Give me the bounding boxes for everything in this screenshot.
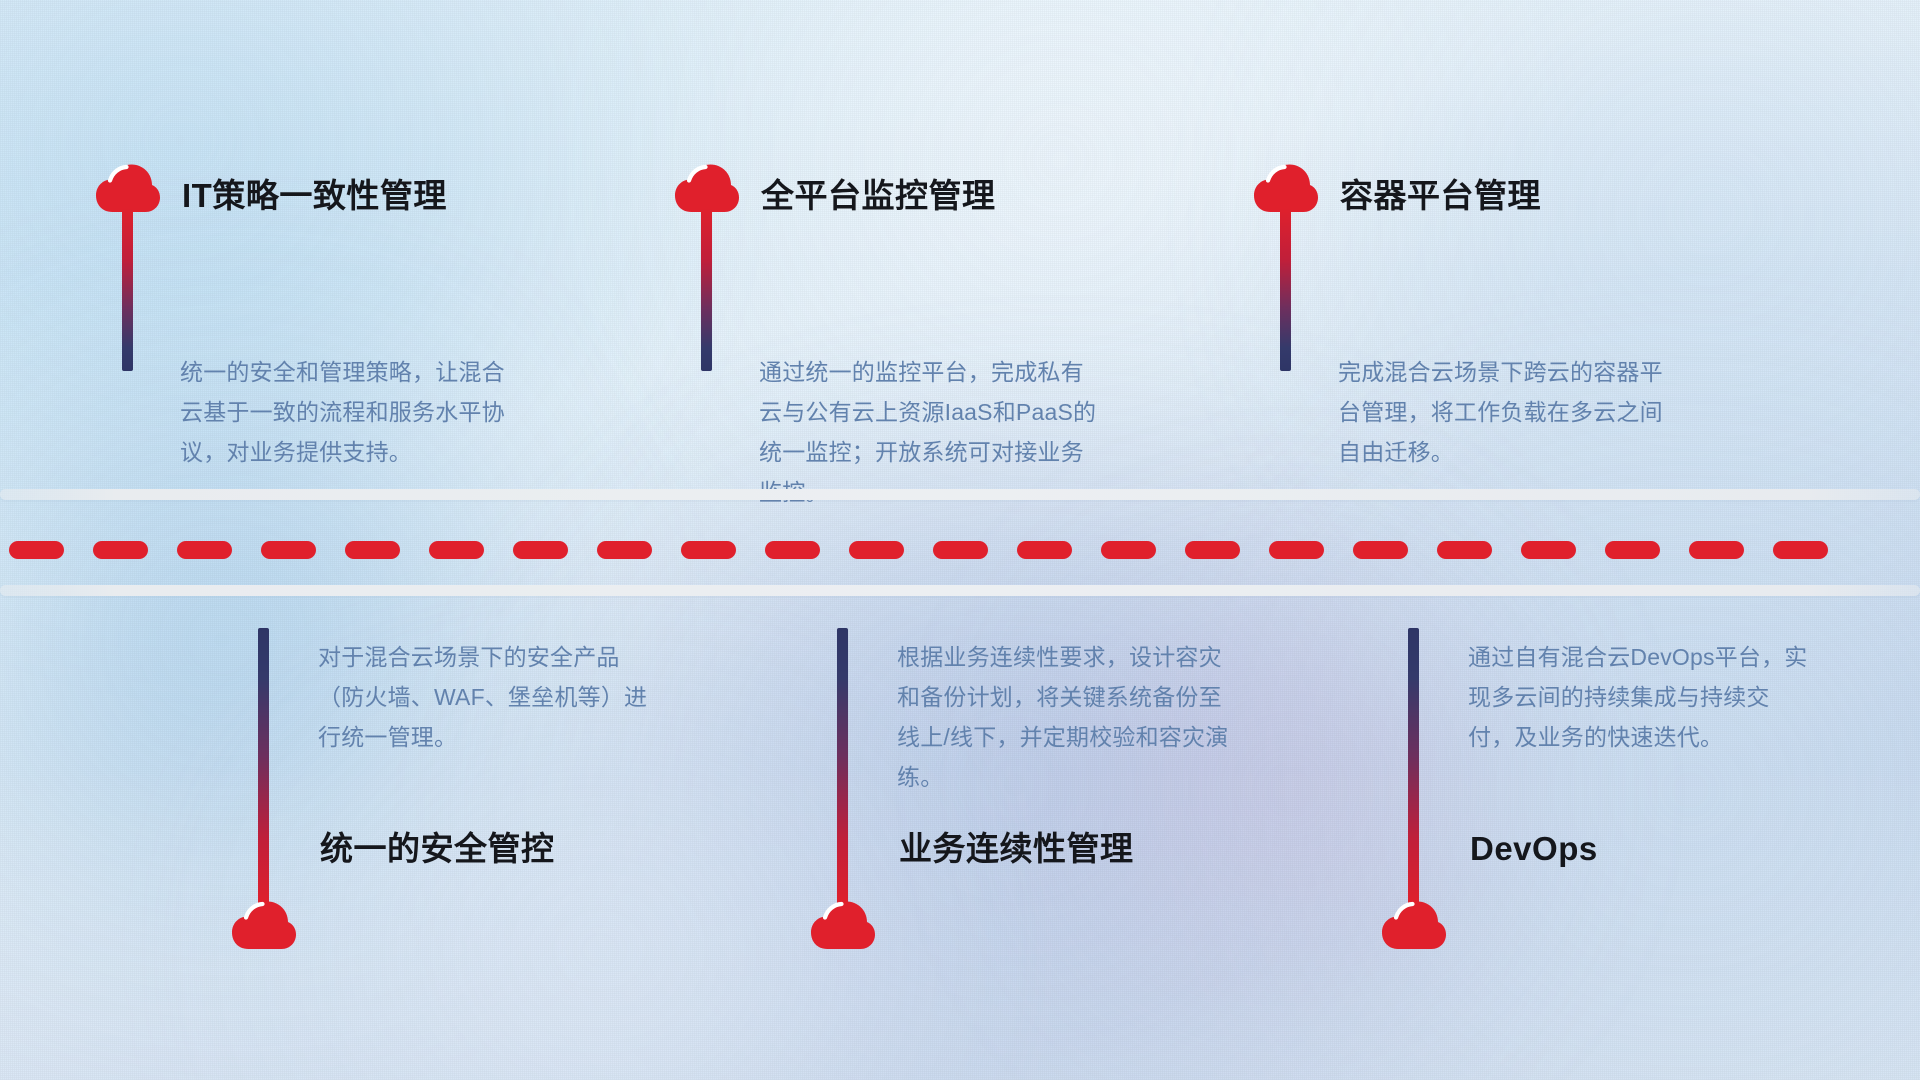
- divider-dash: [513, 541, 568, 559]
- divider-dash: [1773, 541, 1828, 559]
- divider-bar-top: [0, 489, 1920, 500]
- divider-dash: [1353, 541, 1408, 559]
- divider-dash: [1689, 541, 1744, 559]
- divider-dash: [1269, 541, 1324, 559]
- feature-description: 统一的安全和管理策略，让混合云基于一致的流程和服务水平协议，对业务提供支持。: [180, 352, 525, 472]
- connector-line: [701, 208, 712, 371]
- feature-title: 全平台监控管理: [761, 179, 996, 212]
- divider-dash: [597, 541, 652, 559]
- connector-line: [1408, 628, 1419, 905]
- divider-dash: [1017, 541, 1072, 559]
- feature-description: 通过自有混合云DevOps平台，实现多云间的持续集成与持续交付，及业务的快速迭代…: [1468, 637, 1813, 757]
- feature-title: 统一的安全管控: [320, 832, 555, 865]
- divider-dash: [177, 541, 232, 559]
- divider-dash: [261, 541, 316, 559]
- feature-title: DevOps: [1470, 832, 1598, 865]
- divider-dash: [933, 541, 988, 559]
- divider-dash: [1521, 541, 1576, 559]
- feature-description: 对于混合云场景下的安全产品（防火墙、WAF、堡垒机等）进行统一管理。: [318, 637, 663, 757]
- cloud-icon: [231, 900, 297, 950]
- cloud-icon: [1253, 163, 1319, 213]
- feature-title: 容器平台管理: [1340, 179, 1541, 212]
- connector-line: [258, 628, 269, 905]
- cloud-icon: [95, 163, 161, 213]
- dashed-divider: [0, 540, 1920, 559]
- connector-line: [122, 208, 133, 371]
- cloud-icon: [1381, 900, 1447, 950]
- feature-title: 业务连续性管理: [899, 832, 1134, 865]
- cloud-icon: [674, 163, 740, 213]
- divider-dash: [849, 541, 904, 559]
- divider-dash: [681, 541, 736, 559]
- divider-dash: [345, 541, 400, 559]
- connector-line: [1280, 208, 1291, 371]
- divider-dash: [765, 541, 820, 559]
- connector-line: [837, 628, 848, 905]
- infographic-canvas: IT策略一致性管理 统一的安全和管理策略，让混合云基于一致的流程和服务水平协议，…: [0, 0, 1920, 1080]
- divider-dash: [93, 541, 148, 559]
- divider-dash: [1605, 541, 1660, 559]
- feature-description: 完成混合云场景下跨云的容器平台管理，将工作负载在多云之间自由迁移。: [1338, 352, 1683, 472]
- divider-bar-bottom: [0, 585, 1920, 596]
- feature-title: IT策略一致性管理: [182, 179, 447, 212]
- divider-dash: [9, 541, 64, 559]
- divider-dash: [1437, 541, 1492, 559]
- divider-dash: [429, 541, 484, 559]
- feature-description: 根据业务连续性要求，设计容灾和备份计划，将关键系统备份至线上/线下，并定期校验和…: [897, 637, 1242, 797]
- feature-description: 通过统一的监控平台，完成私有云与公有云上资源IaaS和PaaS的统一监控；开放系…: [759, 352, 1104, 512]
- divider-dash: [1101, 541, 1156, 559]
- divider-dash: [1185, 541, 1240, 559]
- cloud-icon: [810, 900, 876, 950]
